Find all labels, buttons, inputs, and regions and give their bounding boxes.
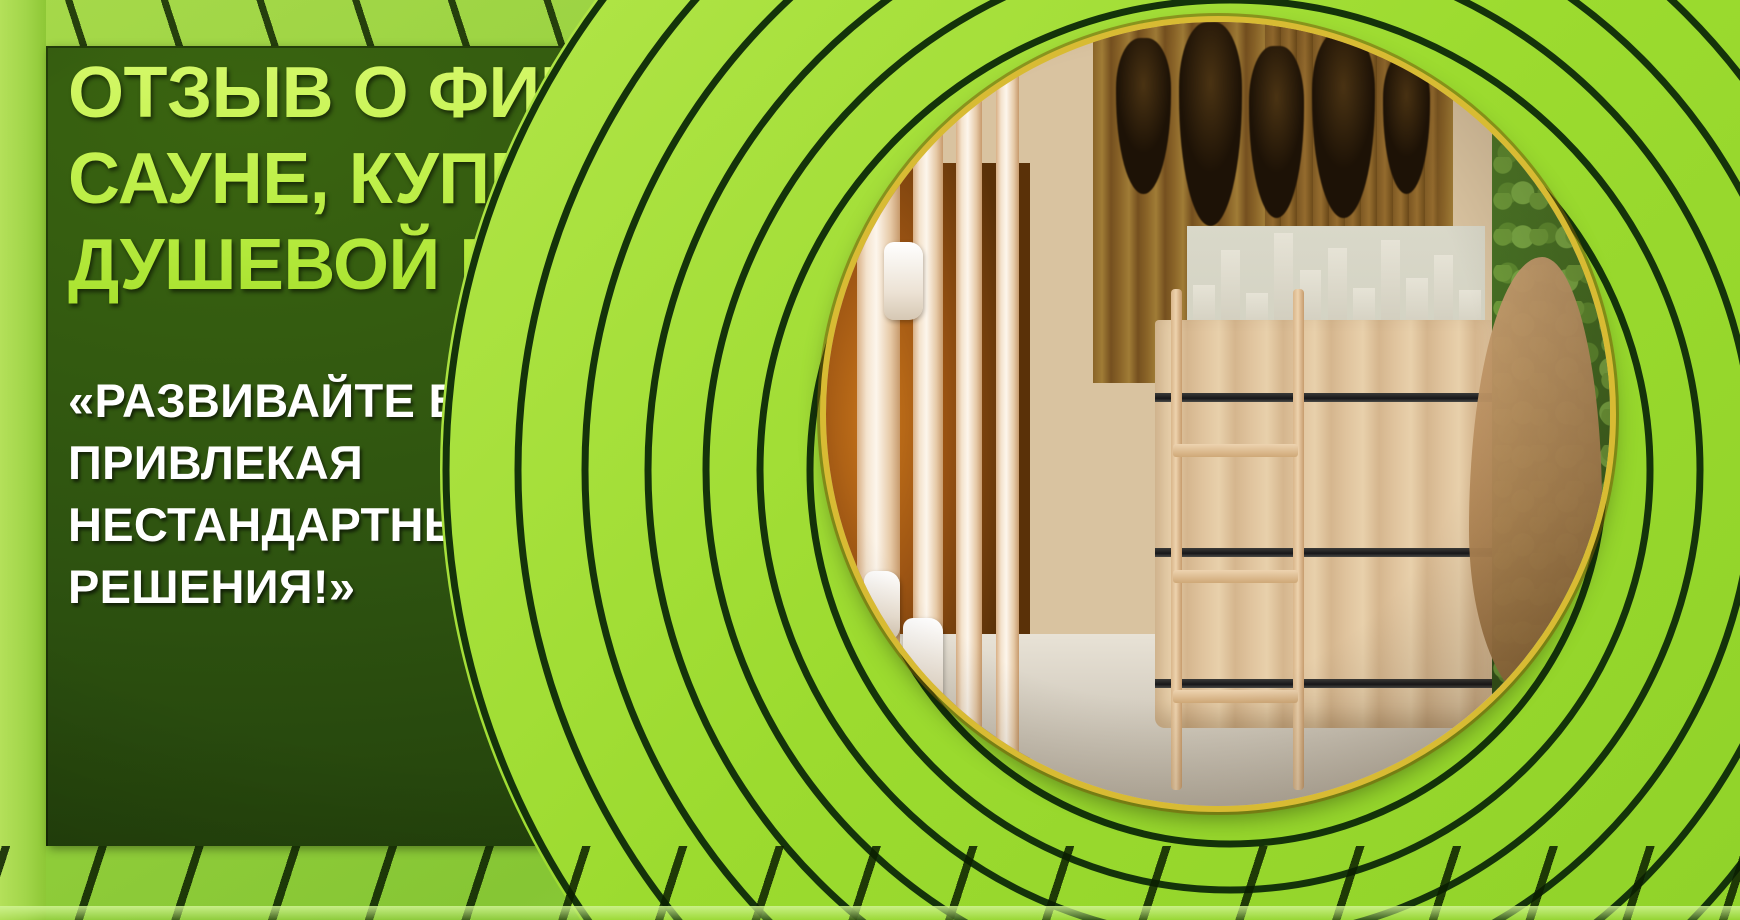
frame-left-highlight — [0, 0, 46, 920]
copy-block: ОТЗЫВ О ФИНСКОЙ САУНЕ, КУПЕЛИ И ДУШЕВОЙ … — [68, 50, 828, 618]
subheadline-quote: «РАЗВИВАЙТЕ БИЗНЕС, ПРИВЛЕКАЯ НЕСТАНДАРТ… — [68, 370, 828, 618]
bottom-edge-highlight — [0, 906, 1740, 920]
photo-content — [826, 22, 1610, 806]
headline: ОТЗЫВ О ФИНСКОЙ САУНЕ, КУПЕЛИ И ДУШЕВОЙ … — [68, 50, 828, 308]
circular-sauna-photo — [826, 22, 1610, 806]
photo-shading-overlay — [826, 22, 1610, 806]
sauna-promo-banner: ОТЗЫВ О ФИНСКОЙ САУНЕ, КУПЕЛИ И ДУШЕВОЙ … — [0, 0, 1740, 920]
